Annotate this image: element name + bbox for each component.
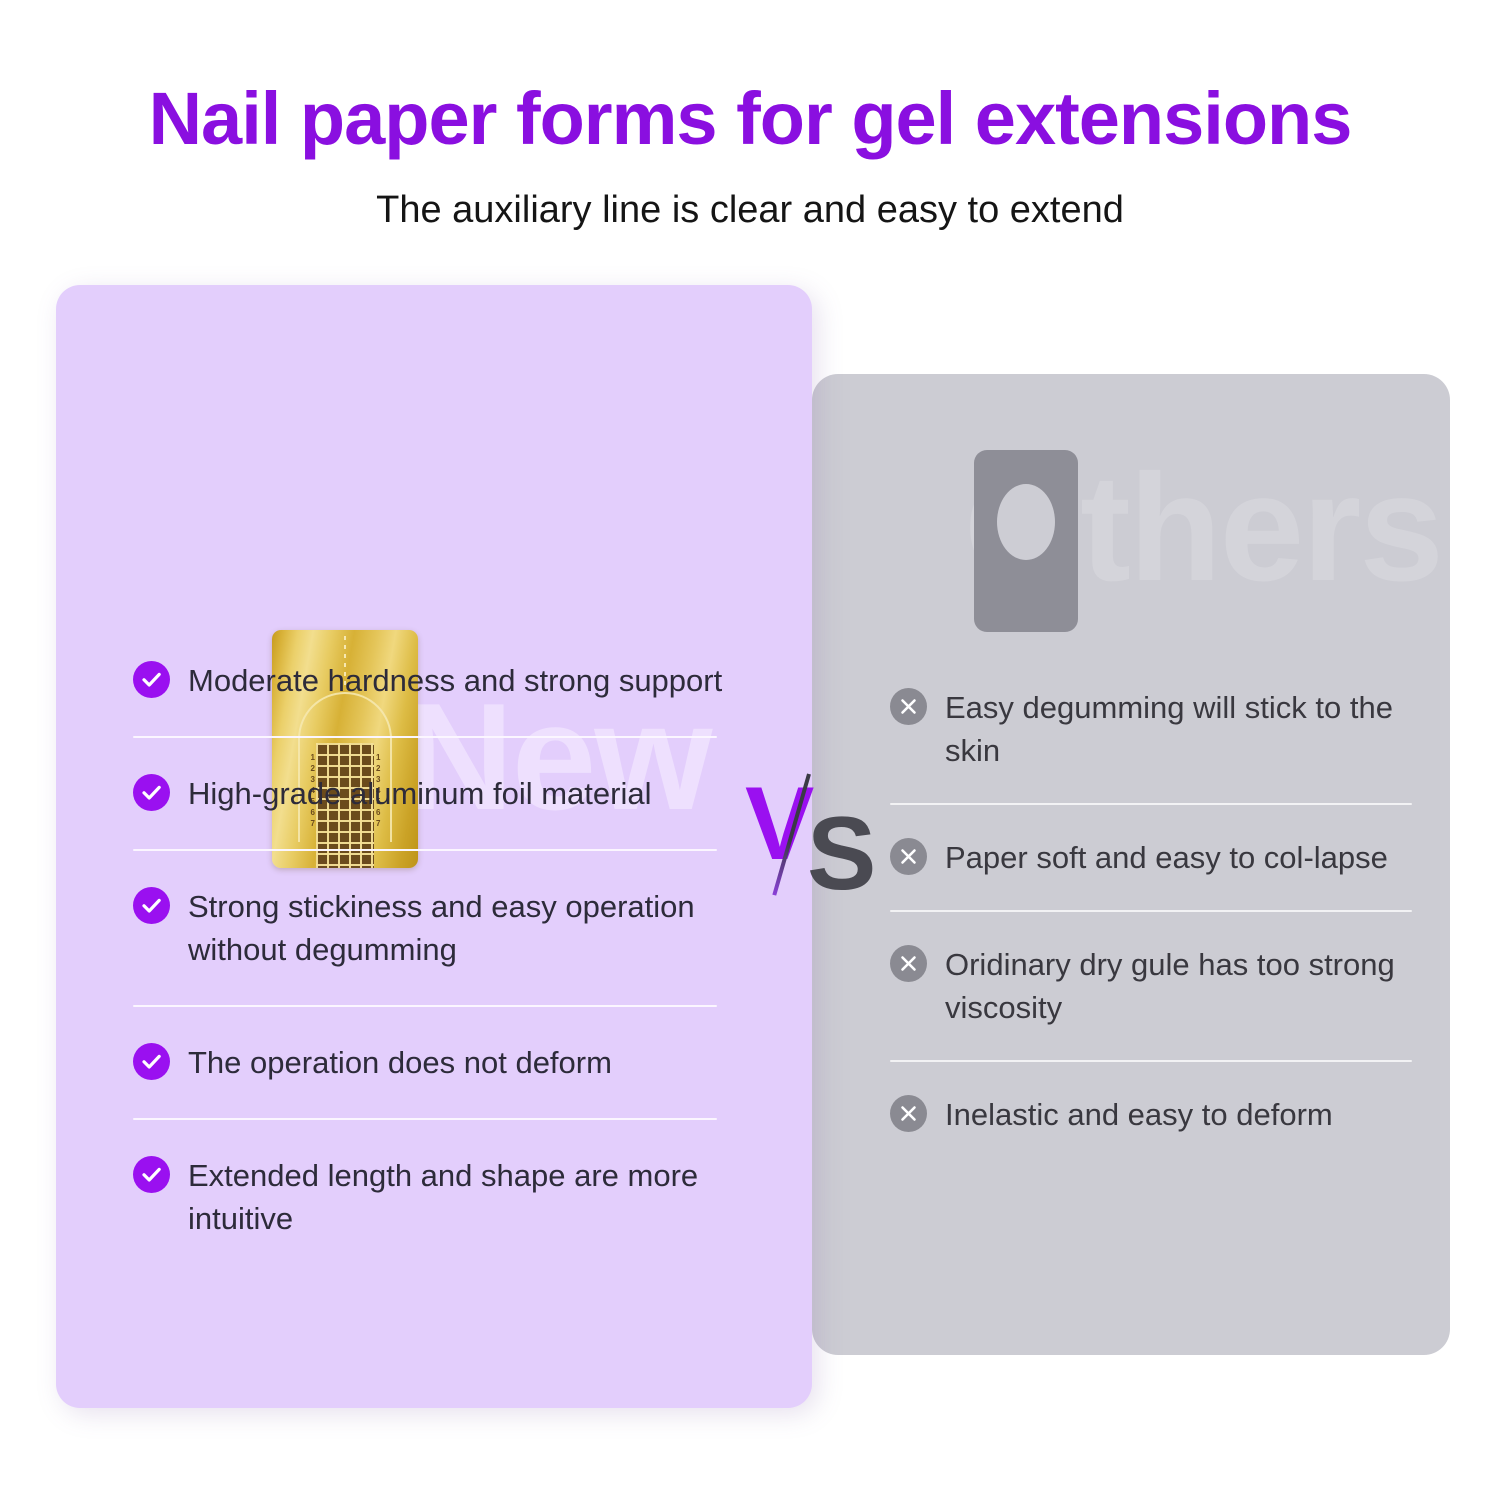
list-item: Easy degumming will stick to the skin [890,686,1420,772]
list-divider [133,736,717,738]
list-item: Oridinary dry gule has too strong viscos… [890,943,1420,1029]
versus-badge: V S [745,772,885,902]
x-icon [890,838,927,875]
list-item: Inelastic and easy to deform [890,1093,1420,1136]
check-icon [133,887,170,924]
check-icon [133,774,170,811]
list-item-label: Oridinary dry gule has too strong viscos… [945,943,1420,1029]
versus-s-label: S [807,802,876,906]
list-divider [890,803,1412,805]
oval-shape [997,484,1055,560]
x-icon [890,688,927,725]
list-item-label: High-grade aluminum foil material [188,772,651,815]
list-item-label: The operation does not deform [188,1041,612,1084]
x-icon [890,1095,927,1132]
list-divider [133,1118,717,1120]
list-divider [890,1060,1412,1062]
page-title: Nail paper forms for gel extensions [0,0,1500,156]
list-item: Extended length and shape are more intui… [133,1154,735,1240]
new-feature-list: Moderate hardness and strong support Hig… [133,659,735,1240]
list-divider [890,910,1412,912]
page-subtitle: The auxiliary line is clear and easy to … [0,156,1500,229]
check-icon [133,1043,170,1080]
list-item: High-grade aluminum foil material [133,772,735,815]
check-icon [133,661,170,698]
list-item-label: Strong stickiness and easy operation wit… [188,885,735,971]
gray-form-placeholder-icon [974,450,1078,632]
list-item: Strong stickiness and easy operation wit… [133,885,735,971]
list-item: The operation does not deform [133,1041,735,1084]
others-feature-list: Easy degumming will stick to the skin Pa… [890,686,1420,1136]
x-icon [890,945,927,982]
list-divider [133,1005,717,1007]
list-item-label: Extended length and shape are more intui… [188,1154,735,1240]
list-divider [133,849,717,851]
list-item: Paper soft and easy to col-lapse [890,836,1420,879]
new-comparison-panel: New 1 2 3 4 5 6 7 1 2 3 4 5 6 7 [56,285,812,1408]
list-item-label: Paper soft and easy to col-lapse [945,836,1388,879]
others-comparison-panel: Others Easy degumming will stick to the … [812,374,1450,1355]
page-header: Nail paper forms for gel extensions The … [0,0,1500,229]
list-item-label: Inelastic and easy to deform [945,1093,1333,1136]
list-item-label: Easy degumming will stick to the skin [945,686,1420,772]
check-icon [133,1156,170,1193]
list-item-label: Moderate hardness and strong support [188,659,722,702]
list-item: Moderate hardness and strong support [133,659,735,702]
